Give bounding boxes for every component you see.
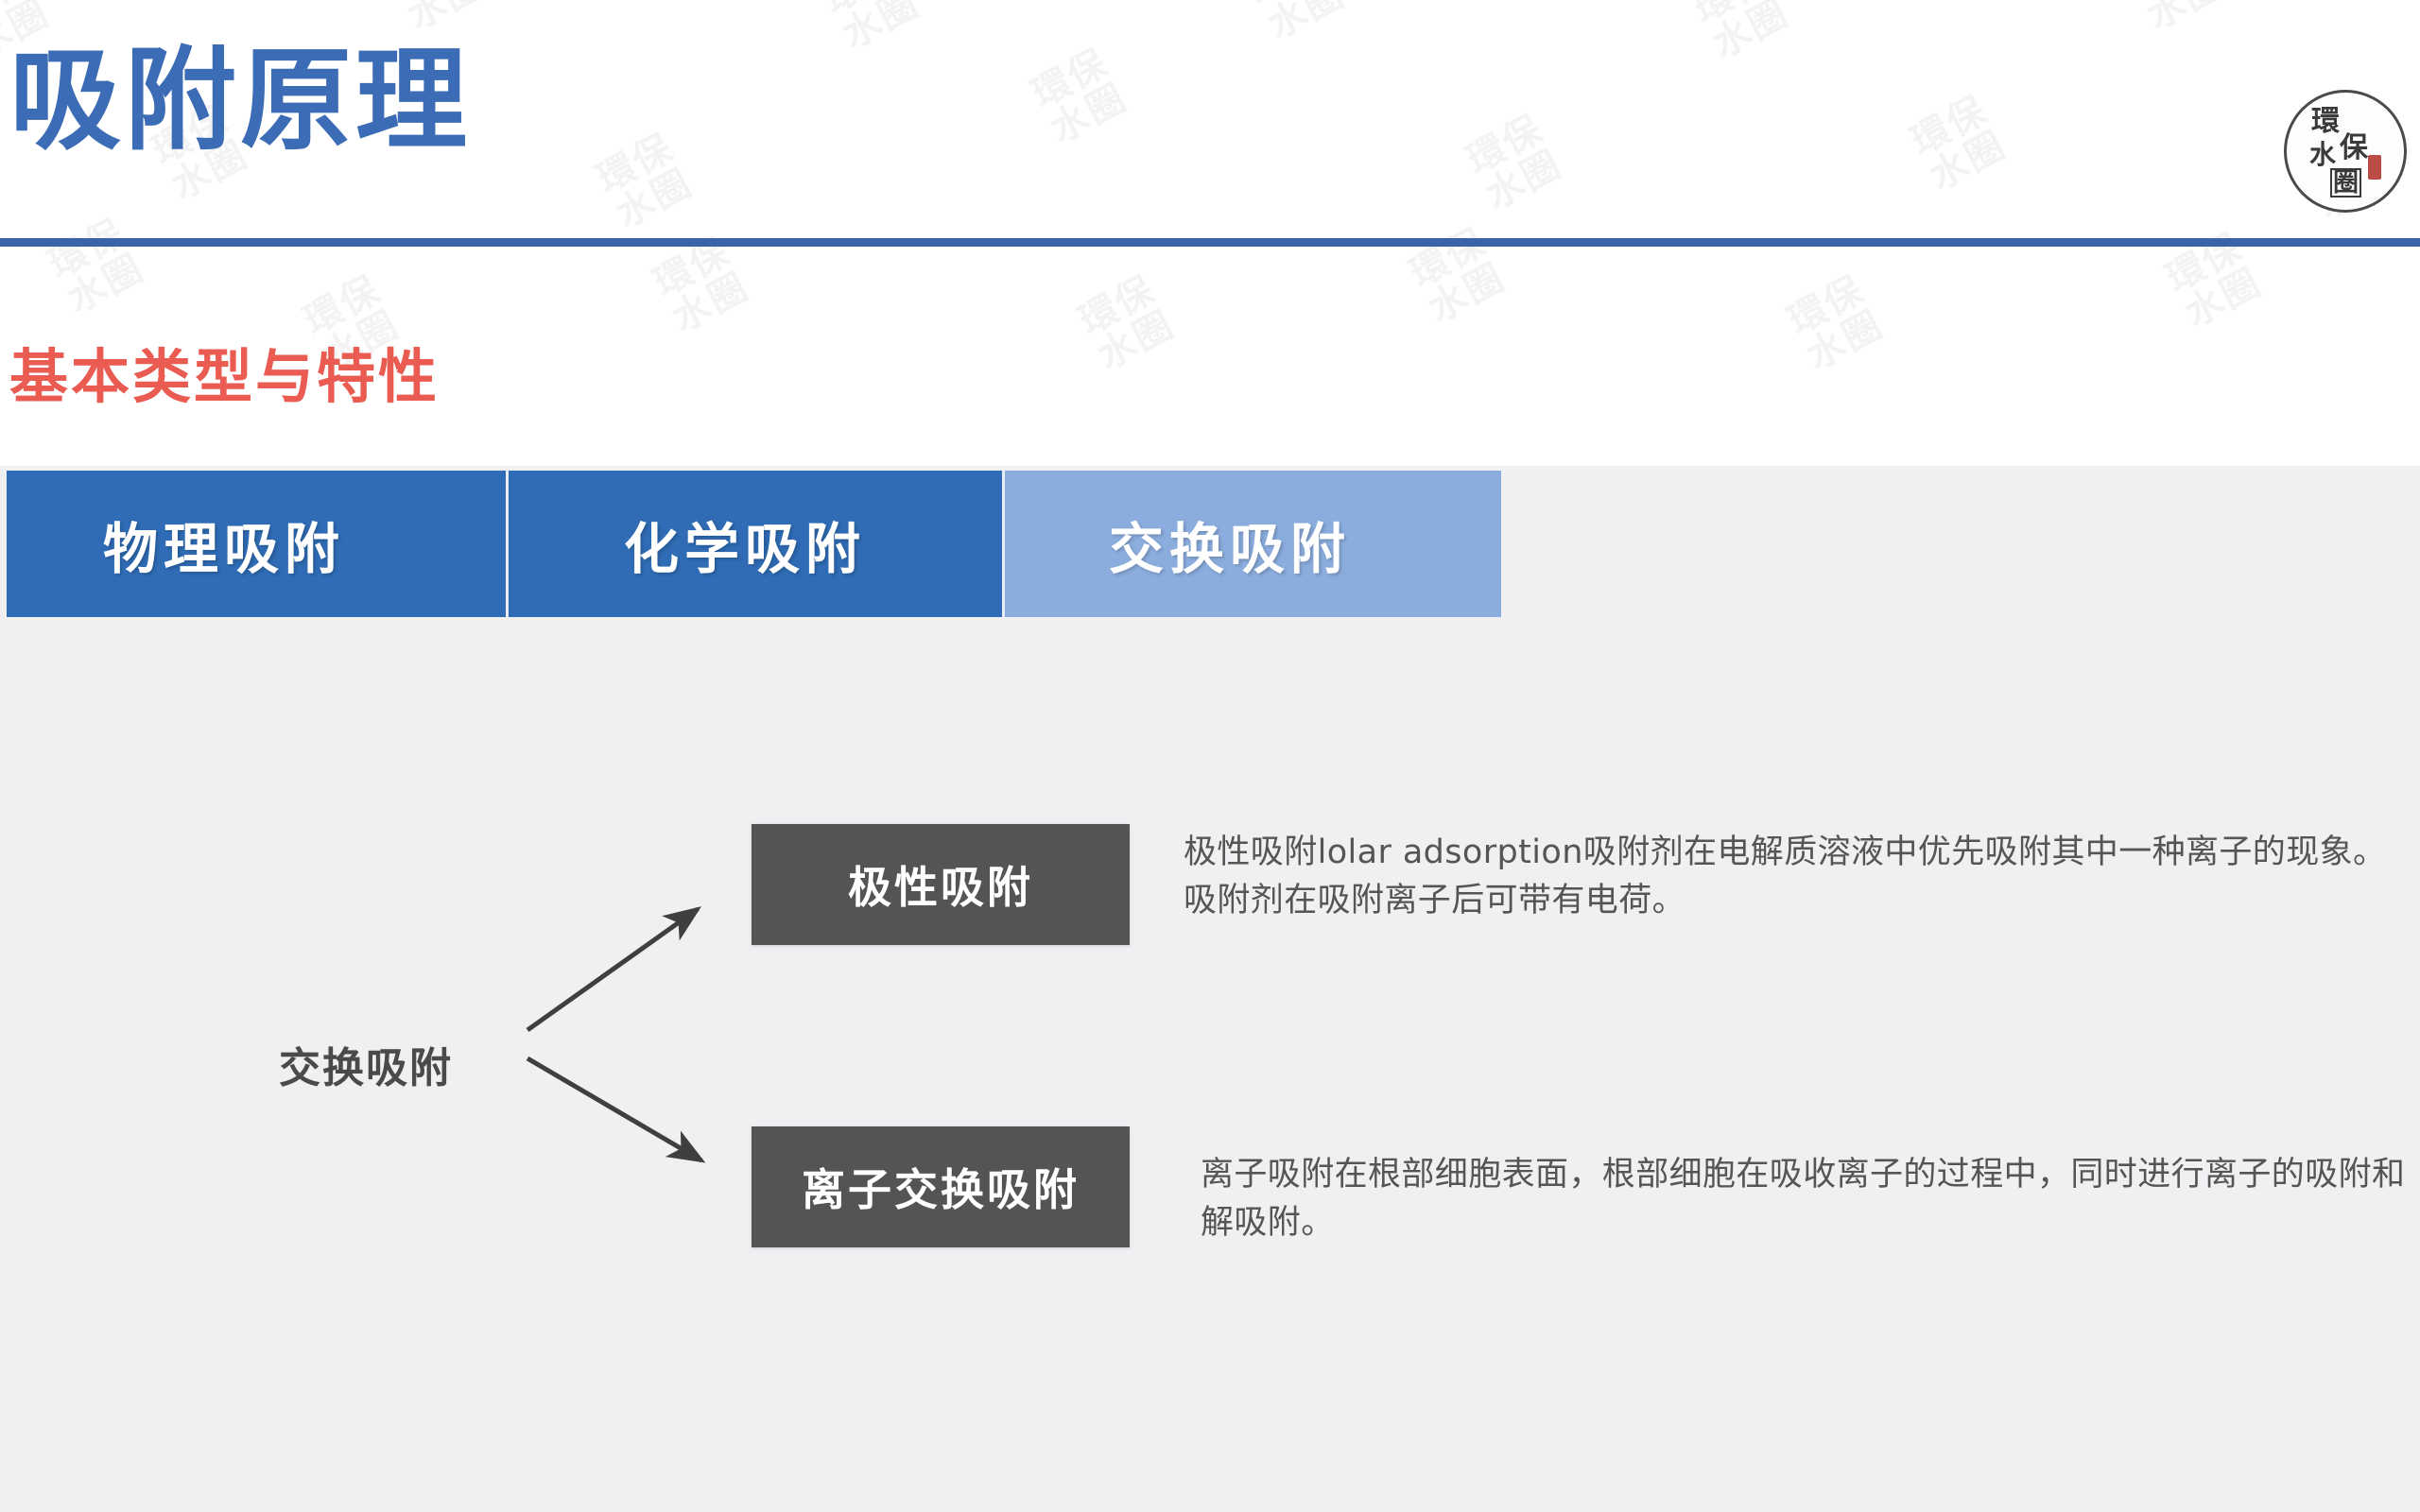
slide-root: 環保水圈環保水圈環保水圈環保水圈環保水圈環保水圈環保水圈環保水圈環保水圈環保水圈…	[0, 0, 2420, 1512]
arrow-to-polar-adsorption	[527, 909, 698, 1030]
diagram-arrows	[492, 869, 756, 1210]
node-label: 极性吸附	[848, 853, 1033, 916]
node-polar-adsorption[interactable]: 极性吸附	[752, 824, 1130, 945]
description-polar-adsorption: 极性吸附lolar adsorption吸附剂在电解质溶液中优先吸附其中一种离子…	[1184, 829, 2412, 925]
node-ion-exchange-adsorption[interactable]: 离子交换吸附	[752, 1126, 1130, 1247]
arrow-to-ion-exchange-adsorption	[527, 1058, 701, 1160]
node-label: 离子交换吸附	[802, 1156, 1080, 1218]
branch-diagram: 交换吸附 极性吸附 极性吸附lolar adsorption吸附剂在电解质溶液中…	[0, 0, 2420, 1512]
description-ion-exchange-adsorption: 离子吸附在根部细胞表面，根部细胞在吸收离子的过程中，同时进行离子的吸附和解吸附。	[1201, 1151, 2420, 1247]
diagram-root-label: 交换吸附	[279, 1034, 453, 1094]
